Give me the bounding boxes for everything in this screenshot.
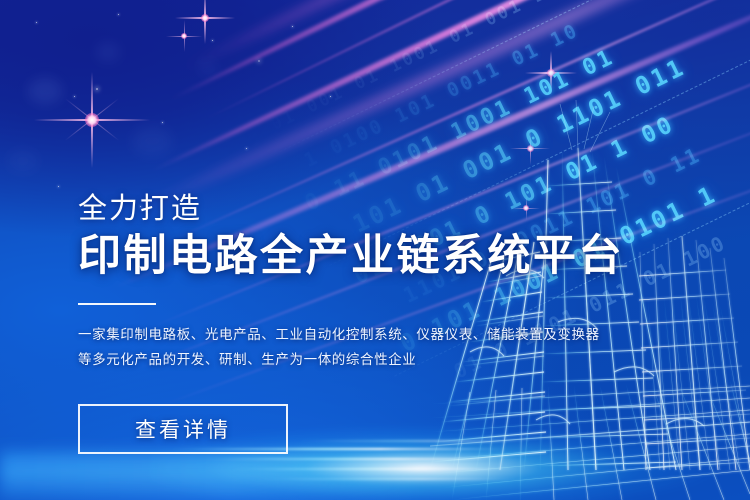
banner-headline: 印制电路全产业链系统平台	[78, 232, 678, 282]
title-divider	[78, 303, 156, 305]
banner-description: 一家集印制电路板、光电产品、工业自动化控制系统、仪器仪表、储能装置及变换器 等多…	[78, 322, 678, 372]
description-line-2: 等多元化产品的开发、研制、生产为一体的综合性企业	[78, 347, 678, 372]
hero-banner: 01 001 01 1001 01 001 1 1 0100 101 0011 …	[0, 0, 750, 500]
view-details-button[interactable]: 查看详情	[78, 404, 288, 454]
banner-content: 全力打造 印制电路全产业链系统平台 一家集印制电路板、光电产品、工业自动化控制系…	[78, 192, 678, 454]
banner-eyebrow: 全力打造	[78, 192, 678, 226]
description-line-1: 一家集印制电路板、光电产品、工业自动化控制系统、仪器仪表、储能装置及变换器	[78, 322, 678, 347]
